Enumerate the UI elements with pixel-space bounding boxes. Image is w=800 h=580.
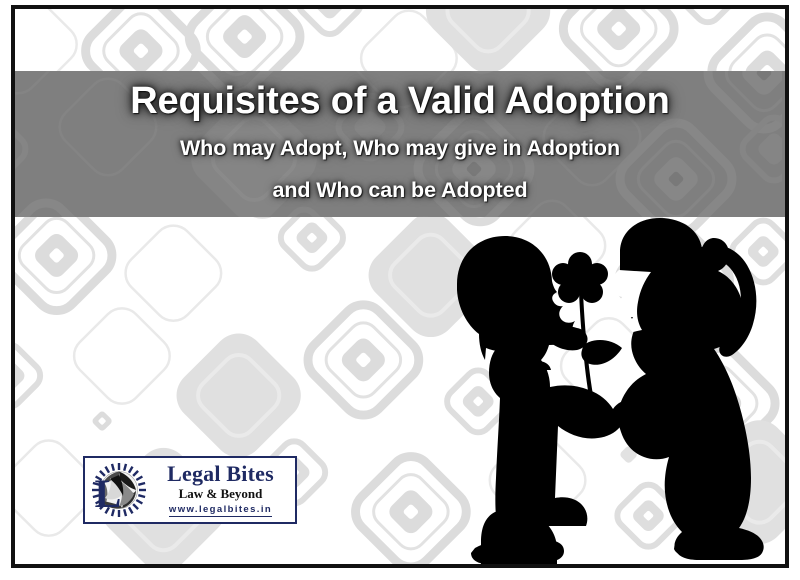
title-band: Requisites of a Valid Adoption Who may A… [15, 71, 785, 217]
logo-tagline: Law & Beyond [150, 487, 291, 500]
logo-letter-l: L [95, 471, 122, 516]
mother-and-child-silhouette [437, 212, 787, 564]
subtitle-line-2: and Who can be Adopted [15, 159, 785, 201]
poster-frame: Requisites of a Valid Adoption Who may A… [11, 5, 789, 568]
logo-website-url[interactable]: www.legalbites.in [169, 505, 272, 517]
page-title: Requisites of a Valid Adoption [15, 71, 785, 123]
legal-bites-logo[interactable]: L L Legal Bites Law & Beyond www.legalbi… [83, 456, 297, 524]
logo-text-block: Legal Bites Law & Beyond www.legalbites.… [148, 463, 291, 517]
poster-canvas: Requisites of a Valid Adoption Who may A… [0, 0, 800, 580]
logo-brand-name: Legal Bites [150, 463, 291, 485]
legal-bites-emblem-icon: L L [90, 461, 148, 519]
subtitle-line-1: Who may Adopt, Who may give in Adoption [15, 123, 785, 159]
